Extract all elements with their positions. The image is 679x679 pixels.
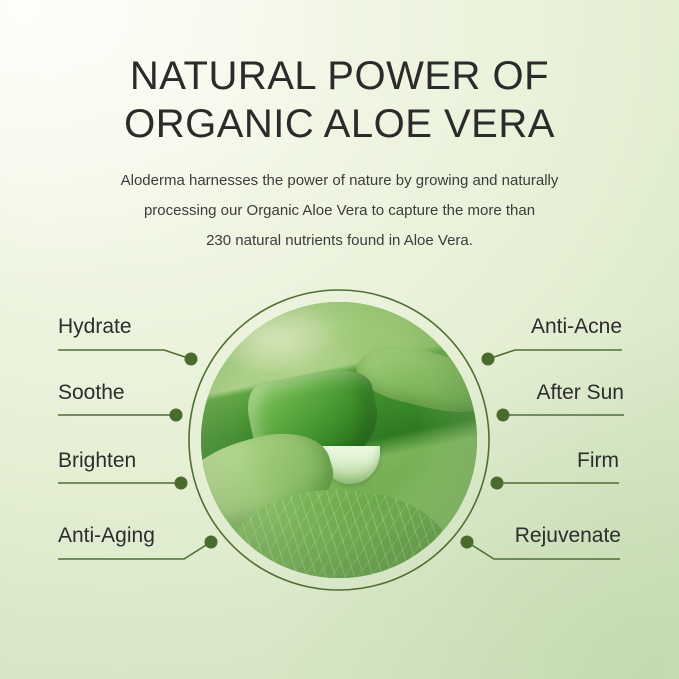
outer-ring — [189, 290, 489, 590]
aloe-vera-infographic: NATURAL POWER OF ORGANIC ALOE VERA Alode… — [0, 0, 679, 679]
benefit-label-anti-aging: Anti-Aging — [58, 524, 155, 548]
node-dot-firm — [491, 477, 504, 490]
benefit-label-hydrate: Hydrate — [58, 315, 132, 339]
node-dot-hydrate — [185, 353, 198, 366]
diagram-lines — [0, 0, 679, 679]
node-dot-brighten — [175, 477, 188, 490]
connector-anti-acne — [488, 350, 622, 359]
node-dot-anti-acne — [482, 353, 495, 366]
benefit-label-rejuvenate: Rejuvenate — [515, 524, 621, 548]
node-dot-soothe — [170, 409, 183, 422]
benefit-label-brighten: Brighten — [58, 449, 136, 473]
benefit-label-anti-acne: Anti-Acne — [531, 315, 622, 339]
benefit-label-firm: Firm — [577, 449, 619, 473]
node-dot-after-sun — [497, 409, 510, 422]
benefit-label-soothe: Soothe — [58, 381, 125, 405]
node-dot-anti-aging — [205, 536, 218, 549]
benefit-label-after-sun: After Sun — [536, 381, 624, 405]
benefits-circle-diagram: Hydrate Soothe Brighten Anti-Aging Anti-… — [0, 0, 679, 679]
connector-hydrate — [58, 350, 191, 359]
node-dot-rejuvenate — [461, 536, 474, 549]
